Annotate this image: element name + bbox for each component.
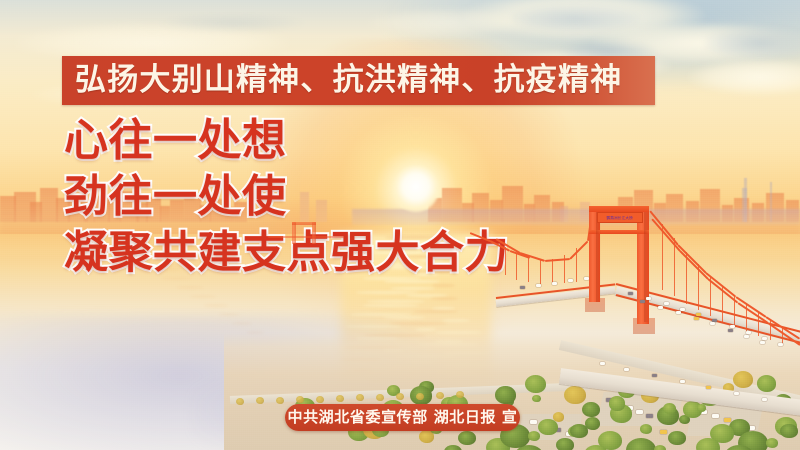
tree xyxy=(336,395,344,402)
vehicle xyxy=(628,292,633,295)
vehicle xyxy=(658,306,663,309)
vehicle xyxy=(778,343,783,346)
tree xyxy=(609,396,626,410)
vehicle xyxy=(746,331,751,334)
tree xyxy=(528,431,540,441)
tree xyxy=(236,398,244,405)
bridge-cable-right xyxy=(677,244,706,273)
distant-bridge-tower xyxy=(312,222,316,244)
bridge-hanger xyxy=(674,238,675,296)
vehicle xyxy=(730,325,735,328)
slogan-banner-text: 弘扬大别山精神、抗洪精神、抗疫精神 xyxy=(62,65,622,96)
vehicle xyxy=(624,368,629,371)
parked-vehicle xyxy=(712,414,719,418)
bridge-hanger xyxy=(698,264,699,310)
vehicle xyxy=(744,335,749,338)
tower-shade xyxy=(596,212,601,302)
vehicle xyxy=(652,374,657,377)
distant-bridge-tower xyxy=(292,222,296,244)
tree xyxy=(556,438,574,450)
bridge-cable-right-2 xyxy=(679,250,708,279)
bridge-cable-left xyxy=(545,258,570,262)
bridge-hanger xyxy=(746,304,747,332)
tree xyxy=(495,386,516,404)
bridge-hanger xyxy=(516,254,517,280)
parked-vehicle xyxy=(530,420,537,424)
distant-bridge-span xyxy=(268,236,344,238)
publisher-credit-pill: 中共湖北省委宣传部 湖北日报 宣 xyxy=(285,404,520,431)
tree xyxy=(376,394,384,401)
tree xyxy=(564,386,586,405)
parked-vehicle xyxy=(636,410,643,414)
publisher-credit-text: 中共湖北省委宣传部 湖北日报 宣 xyxy=(287,410,517,425)
parked-vehicle xyxy=(646,414,653,418)
vehicle xyxy=(520,286,525,289)
vehicle xyxy=(706,386,711,389)
poster-canvas: 鹦鹉洲长江大桥 弘扬大别山精神、抗洪精神、抗疫精神 心往一处想 劲往一处使 凝聚… xyxy=(0,0,800,450)
vehicle xyxy=(664,302,669,305)
tree xyxy=(654,445,666,450)
vehicle xyxy=(762,398,767,401)
tree xyxy=(296,396,304,403)
bridge-tower-sign: 鹦鹉洲长江大桥 xyxy=(597,212,643,223)
headline-block: 心往一处想 劲往一处使 凝聚共建支点强大合力 xyxy=(64,113,509,281)
bridge-hanger xyxy=(734,296,735,328)
vehicle xyxy=(536,284,541,287)
vehicle xyxy=(552,282,557,285)
tree xyxy=(458,431,476,445)
bridge-hanger xyxy=(710,276,711,316)
bridge-cable-right-2 xyxy=(651,218,681,251)
bridge-hanger xyxy=(662,224,663,290)
vehicle xyxy=(760,341,765,344)
tree xyxy=(640,424,652,434)
tree xyxy=(416,393,424,400)
vehicle xyxy=(696,313,701,316)
tree xyxy=(757,375,776,391)
vehicle xyxy=(640,300,645,303)
vehicle xyxy=(728,329,733,332)
bridge-hanger xyxy=(722,286,723,322)
bridge-hanger xyxy=(552,259,553,284)
vehicle xyxy=(584,277,589,280)
bridge-hanger xyxy=(505,247,506,275)
vehicle xyxy=(568,279,573,282)
vehicle xyxy=(734,392,739,395)
tree xyxy=(663,403,676,414)
tree xyxy=(668,431,686,445)
bridge-hanger xyxy=(758,312,759,336)
tree xyxy=(553,412,564,421)
vehicle xyxy=(710,322,715,325)
tower-shade xyxy=(644,212,649,322)
headline-line-3: 凝聚共建支点强大合力 xyxy=(64,225,509,281)
bridge-hanger xyxy=(540,260,541,284)
tree xyxy=(733,371,753,388)
tree xyxy=(697,404,706,412)
parked-vehicle xyxy=(724,418,731,422)
tree xyxy=(525,375,546,393)
vehicle xyxy=(694,317,699,320)
tree xyxy=(570,424,588,438)
vehicle xyxy=(680,380,685,383)
bridge-sign-text: 鹦鹉洲长江大桥 xyxy=(607,215,633,220)
tree xyxy=(780,424,798,438)
bridge-cable-left xyxy=(569,240,588,259)
tree xyxy=(316,396,324,403)
bridge-hanger xyxy=(686,252,687,304)
bridge-hanger xyxy=(770,320,771,340)
distant-bridge-beam xyxy=(292,222,316,225)
bridge-hanger xyxy=(576,248,577,282)
tree xyxy=(276,397,284,404)
tree xyxy=(436,392,444,399)
tree xyxy=(766,438,778,448)
bridge-hanger xyxy=(564,255,565,283)
vehicle xyxy=(676,311,681,314)
vehicle xyxy=(646,297,651,300)
headline-line-2: 劲往一处使 xyxy=(64,169,509,225)
tree xyxy=(396,393,404,400)
bridge-hanger xyxy=(782,326,783,344)
vehicle xyxy=(762,337,767,340)
tree xyxy=(696,438,720,450)
parked-vehicle xyxy=(660,430,667,434)
tree xyxy=(582,402,600,417)
slogan-banner: 弘扬大别山精神、抗洪精神、抗疫精神 xyxy=(62,56,655,105)
bridge-hanger xyxy=(528,258,529,282)
vehicle xyxy=(600,362,605,365)
headline-line-1: 心往一处想 xyxy=(64,113,509,169)
